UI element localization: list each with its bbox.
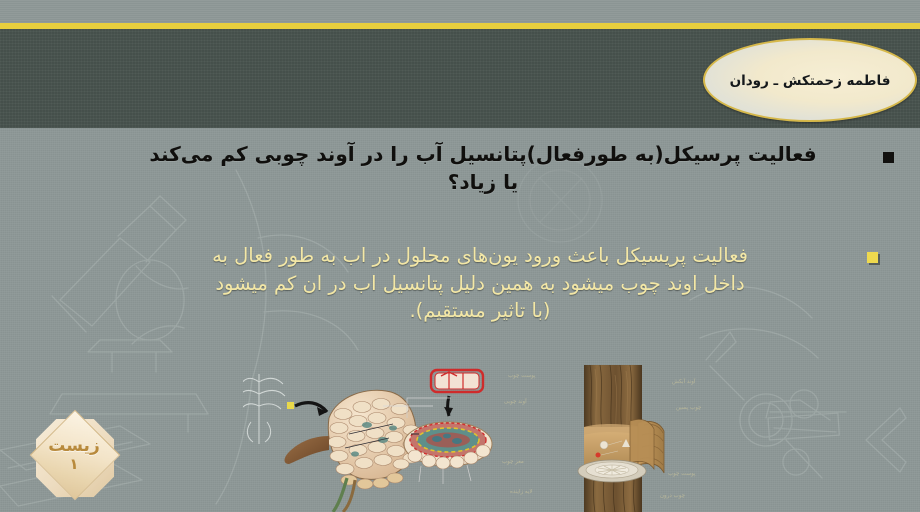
logo-text-group: زیست ۱ [27, 411, 121, 499]
logo-number-text: ۱ [69, 456, 78, 473]
header-top-band [0, 0, 920, 23]
square-bullet-yellow-icon [867, 252, 878, 263]
author-badge: فاطمه زحمتکش ـ رودان [703, 38, 917, 122]
answer-line-3: (با تاثیر مستقیم). [100, 297, 860, 325]
question-line-1: فعالیت پرسیکل(به طورفعال)پتانسیل آب را د… [88, 140, 878, 168]
square-bullet-black-icon [883, 152, 894, 163]
slide-canvas: فاطمه زحمتکش ـ رودان فعالیت پرسیکل(به طو… [0, 0, 920, 512]
answer-line-1: فعالیت پریسیکل باعث ورود یون‌های محلول د… [100, 242, 860, 270]
figure-root-cross-section [243, 362, 493, 512]
question-bullet-item: فعالیت پرسیکل(به طورفعال)پتانسیل آب را د… [88, 140, 878, 197]
author-name: فاطمه زحمتکش ـ رودان [730, 73, 891, 89]
logo-main-text: زیست [48, 438, 99, 455]
answer-line-2: داخل اوند چوب میشود به همین دلیل پتانسیل… [100, 270, 860, 298]
course-logo: زیست ۱ [30, 415, 124, 503]
figure-tree-trunk-section: پوست چوب آوند چوبی مغز چوب لایه زاینده آ… [560, 365, 670, 512]
answer-bullet-item: فعالیت پریسیکل باعث ورود یون‌های محلول د… [100, 242, 860, 325]
question-line-2: یا زیاد؟ [88, 168, 878, 196]
